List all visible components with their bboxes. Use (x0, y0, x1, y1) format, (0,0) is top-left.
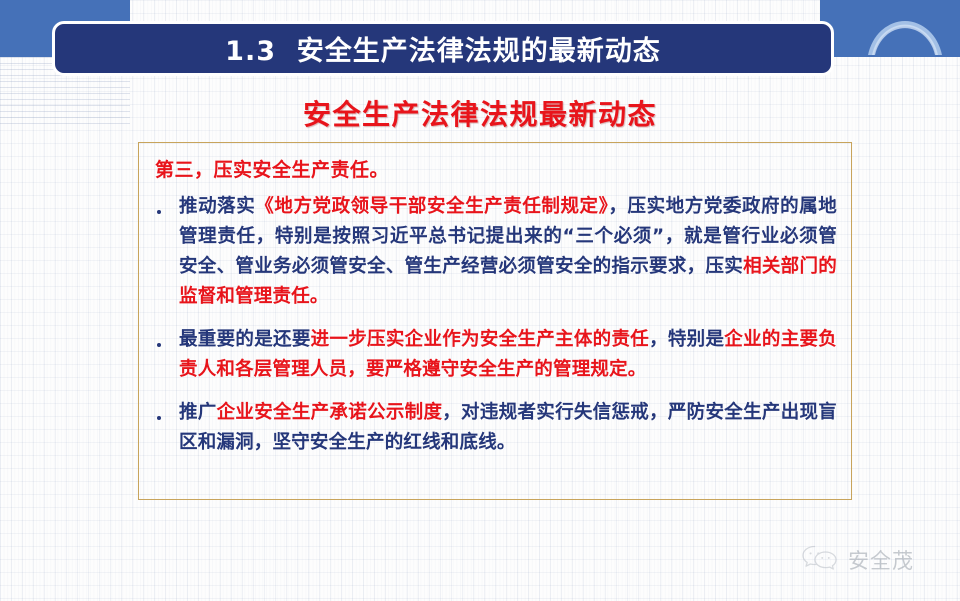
slide-canvas: 1.3 安全生产法律法规的最新动态 安全生产法律法规最新动态 第三，压实安全生产… (0, 0, 960, 601)
bullet-text-1: 推动落实《地方党政领导干部安全生产责任制规定》，压实地方党委政府的属地管理责任，… (179, 192, 837, 312)
bullet-marker-icon (151, 398, 179, 422)
section-heading: 安全生产法律法规最新动态 (0, 93, 960, 133)
bullet-text-3: 推广企业安全生产承诺公示制度，对违规者实行失信惩戒，严防安全生产出现盲区和漏洞，… (179, 398, 837, 458)
bullet-marker-icon (151, 325, 179, 349)
text-segment: 推动落实 (179, 196, 255, 217)
bullet-marker-icon (151, 192, 179, 216)
text-segment: 最重要的是还要 (179, 329, 311, 350)
text-segment: 进一步压实企业作为安全生产主体的责任 (311, 329, 649, 350)
content-box: 第三，压实安全生产责任。 推动落实《地方党政领导干部安全生产责任制规定》，压实地… (138, 142, 852, 500)
slide-title-text: 1.3 安全生产法律法规的最新动态 (225, 29, 661, 68)
content-lead-line: 第三，压实安全生产责任。 (155, 155, 837, 182)
wechat-icon (800, 543, 840, 578)
decor-arc-icon (866, 5, 944, 55)
bullet-item-3: 推广企业安全生产承诺公示制度，对违规者实行失信惩戒，严防安全生产出现盲区和漏洞，… (151, 398, 837, 458)
text-segment: 企业安全生产承诺公示制度 (217, 402, 443, 423)
watermark-text: 安全茂 (848, 545, 914, 575)
slide-title-bar: 1.3 安全生产法律法规的最新动态 (52, 21, 834, 76)
bullet-item-2: 最重要的是还要进一步压实企业作为安全生产主体的责任，特别是企业的主要负责人和各层… (151, 325, 837, 385)
text-segment: ，特别是 (649, 329, 724, 350)
bullet-text-2: 最重要的是还要进一步压实企业作为安全生产主体的责任，特别是企业的主要负责人和各层… (179, 325, 837, 385)
watermark: 安全茂 (800, 538, 950, 582)
text-segment: 推广 (179, 402, 217, 423)
bullet-item-1: 推动落实《地方党政领导干部安全生产责任制规定》，压实地方党委政府的属地管理责任，… (151, 192, 837, 312)
text-segment: 《地方党政领导干部安全生产责任制规定》 (255, 196, 608, 217)
